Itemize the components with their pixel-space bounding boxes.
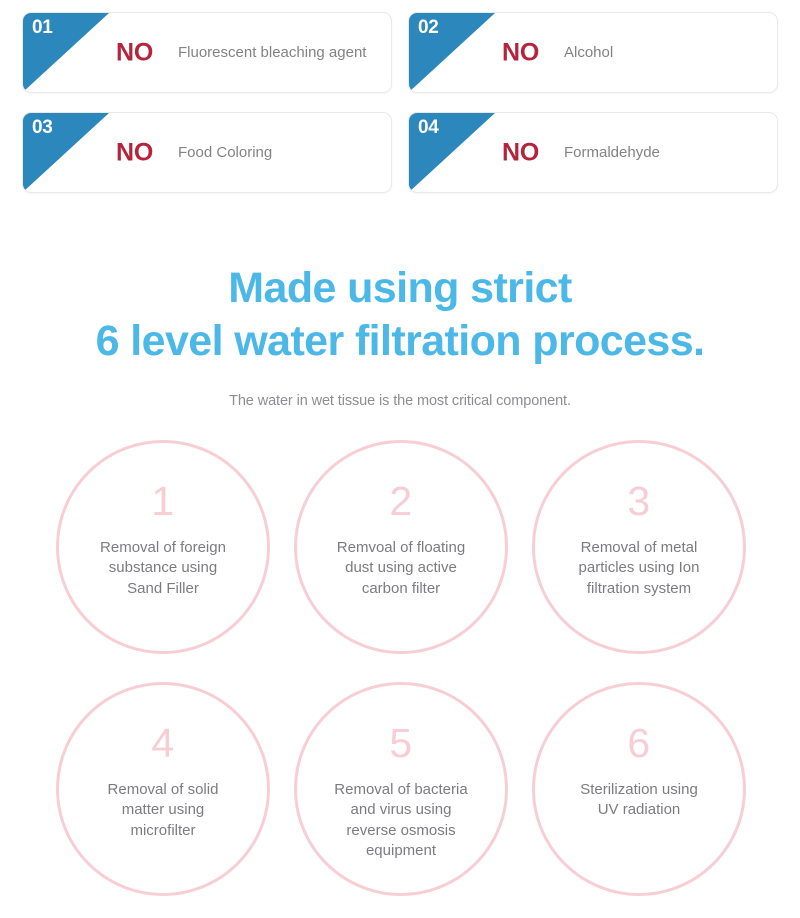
card-number: 04 xyxy=(418,118,439,137)
step-description: Removal of solid matter using microfilte… xyxy=(90,780,237,841)
no-label: NO xyxy=(502,140,539,165)
step-number: 1 xyxy=(151,481,174,522)
no-card-03: 03 NO Food Coloring xyxy=(22,112,392,193)
ingredient-name: Alcohol xyxy=(564,43,763,63)
step-description: Removal of bacteria and virus using reve… xyxy=(316,780,485,862)
filtration-steps: 1 Removal of foreign substance using San… xyxy=(56,440,746,896)
step-description: Removal of metal particles using Ion fil… xyxy=(561,538,718,599)
filtration-step-4: 4 Removal of solid matter using microfil… xyxy=(56,682,270,896)
card-number: 02 xyxy=(418,18,439,37)
step-number: 5 xyxy=(389,723,412,764)
step-description: Removal of foreign substance using Sand … xyxy=(82,538,244,599)
ingredient-name: Fluorescent bleaching agent xyxy=(178,43,377,63)
no-label: NO xyxy=(116,140,153,165)
step-description: Remvoal of floating dust using active ca… xyxy=(319,538,483,599)
step-number: 3 xyxy=(627,481,650,522)
card-number: 01 xyxy=(32,18,53,37)
page-subtitle: The water in wet tissue is the most crit… xyxy=(0,393,800,409)
page-title: Made using strict 6 level water filtrati… xyxy=(0,262,800,368)
filtration-step-3: 3 Removal of metal particles using Ion f… xyxy=(532,440,746,654)
ingredient-name: Formaldehyde xyxy=(564,143,763,163)
filtration-step-5: 5 Removal of bacteria and virus using re… xyxy=(294,682,508,896)
filtration-step-2: 2 Remvoal of floating dust using active … xyxy=(294,440,508,654)
step-description: Sterilization using UV radiation xyxy=(562,780,716,821)
ingredient-name: Food Coloring xyxy=(178,143,377,163)
step-number: 2 xyxy=(389,481,412,522)
filtration-step-6: 6 Sterilization using UV radiation xyxy=(532,682,746,896)
no-label: NO xyxy=(116,40,153,65)
page-title-line-1: Made using strict xyxy=(0,262,800,315)
no-ingredients-list: 01 NO Fluorescent bleaching agent 02 NO … xyxy=(22,12,778,193)
step-number: 6 xyxy=(627,723,650,764)
filtration-step-1: 1 Removal of foreign substance using San… xyxy=(56,440,270,654)
step-number: 4 xyxy=(151,723,174,764)
no-card-04: 04 NO Formaldehyde xyxy=(408,112,778,193)
no-card-01: 01 NO Fluorescent bleaching agent xyxy=(22,12,392,93)
page-title-line-2: 6 level water filtration process. xyxy=(0,315,800,368)
no-label: NO xyxy=(502,40,539,65)
infographic-page: 01 NO Fluorescent bleaching agent 02 NO … xyxy=(0,0,800,918)
no-card-02: 02 NO Alcohol xyxy=(408,12,778,93)
card-number: 03 xyxy=(32,118,53,137)
